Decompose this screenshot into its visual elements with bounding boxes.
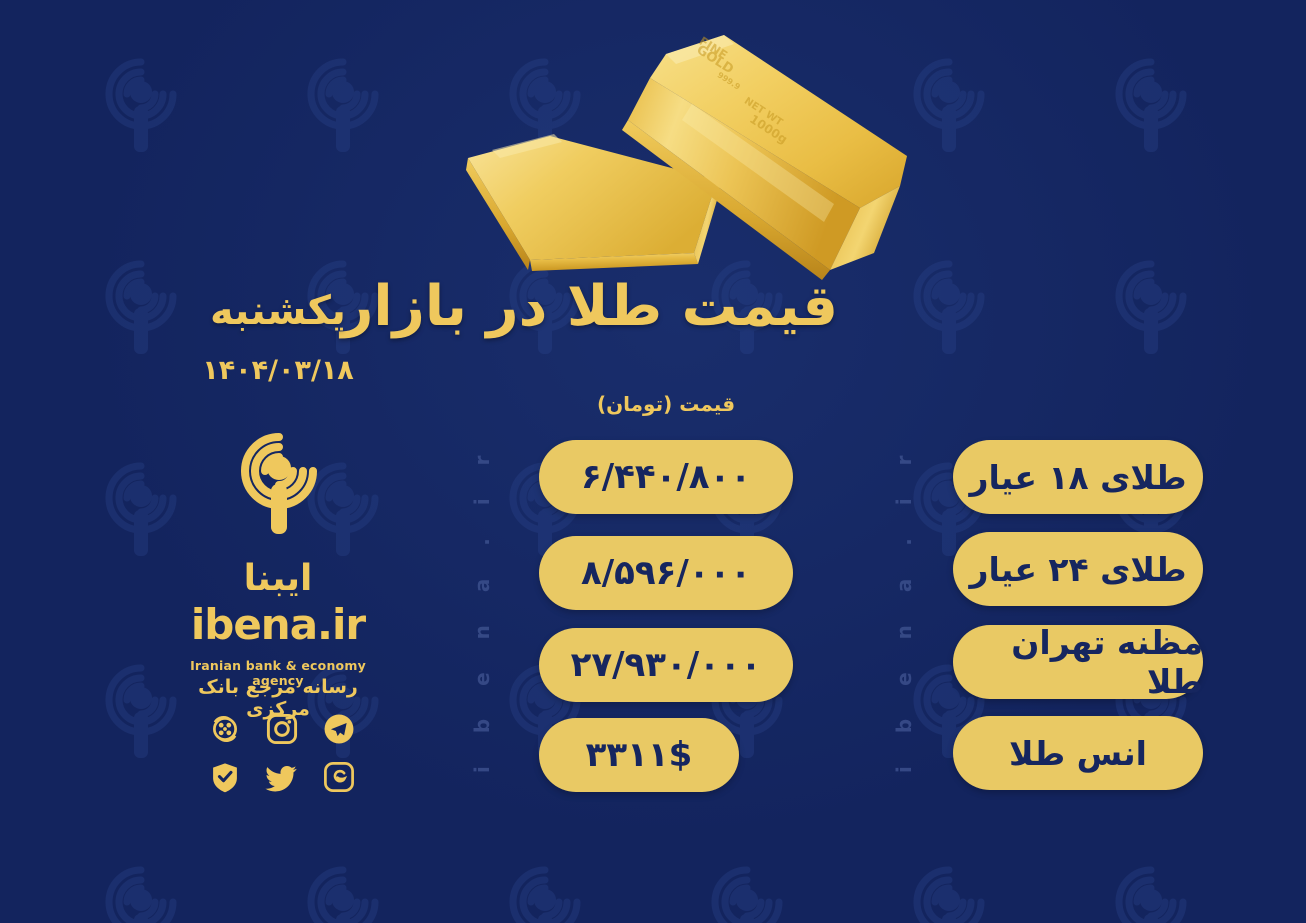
price-label-pill-2: مظنه تهران طلا [953,625,1203,699]
aparat-icon[interactable] [208,712,242,746]
svg-text:GOLD: GOLD [694,43,737,78]
gold-bar-lower [466,134,720,271]
svg-text:NET WT: NET WT [742,96,785,129]
svg-text:999.9: 999.9 [716,70,742,92]
price-value-pill-2: ۲۷/۹۳۰/۰۰۰ [539,628,793,702]
price-label-pill-1: طلای ۲۴ عیار [953,532,1203,606]
day-name: یکشنبه [178,288,378,334]
price-value-pill-0: ۶/۴۴۰/۸۰۰ [539,440,793,514]
price-column-header: قیمت (تومان) [570,392,762,416]
brand-name-fa: ایبنا [178,558,378,599]
page-title: قیمت طلا در بازار [438,278,838,337]
vertical-watermark-left: i b e n a . i r [462,432,502,784]
brand-name-latin: ibena.ir [178,600,378,649]
svg-text:1000g: 1000g [747,112,790,147]
poster-canvas: i b e n a . i r i b e n a . i r [0,0,1306,923]
twitter-bird-icon[interactable] [265,760,299,794]
price-value-pill-1: ۸/۵۹۶/۰۰۰ [539,536,793,610]
bale-shield-check-icon[interactable] [208,760,242,794]
gold-bar-upper: FINE GOLD 999.9 NET WT 1000g [622,34,907,280]
instagram-icon[interactable] [265,712,299,746]
date-value: ۱۴۰۴/۰۳/۱۸ [178,355,378,386]
social-links [196,712,368,794]
vertical-watermark-right: i b e n a . i r [884,432,924,784]
svg-text:FINE: FINE [696,34,730,63]
price-label-pill-0: طلای ۱۸ عیار [953,440,1203,514]
telegram-icon[interactable] [322,712,356,746]
ibena-broadcast-logo-icon [224,428,334,548]
eitaa-icon[interactable] [322,760,356,794]
price-value-pill-3: ۳۳۱۱$ [539,718,739,792]
price-label-pill-3: انس طلا [953,716,1203,790]
gold-bars-illustration: FINE GOLD 999.9 NET WT 1000g [462,8,932,298]
